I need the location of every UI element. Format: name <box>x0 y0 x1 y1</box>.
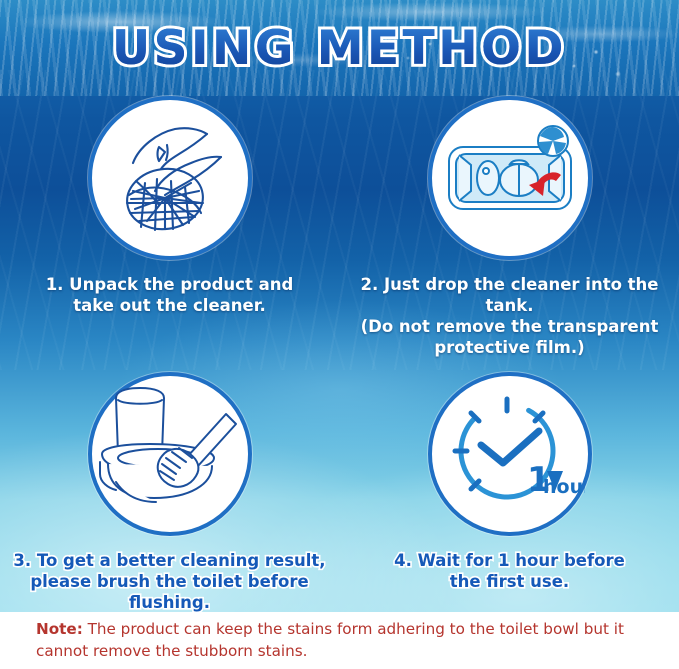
step-1-badge <box>88 96 252 260</box>
steps-grid: 1. Unpack the product and take out the c… <box>0 96 679 562</box>
step-4-badge: 1 hour <box>428 372 592 536</box>
step-4-caption: 4. Wait for 1 hour before the first use. <box>345 550 675 592</box>
clock-hour-unit: hour <box>543 476 585 498</box>
cleaner-pinwheel <box>538 126 568 156</box>
hand-unpacking-cleaner-icon <box>95 103 245 253</box>
step-2: 2. Just drop the cleaner into the tank. … <box>340 96 679 358</box>
clock-one-hour-icon: 1 hour <box>435 379 585 529</box>
step-1-caption: 1. Unpack the product and take out the c… <box>5 274 335 316</box>
note-text: Note: The product can keep the stains fo… <box>36 618 659 662</box>
clock-hands <box>481 431 539 463</box>
step-2-caption: 2. Just drop the cleaner into the tank. … <box>345 274 675 358</box>
step-3: 3. To get a better cleaning result, plea… <box>0 372 339 613</box>
toilet-tank-drop-cleaner-icon <box>435 103 585 253</box>
step-4: 1 hour 4. Wait for 1 hour before the fir… <box>340 372 679 592</box>
page-title: USING METHOD <box>0 22 679 76</box>
poster: USING METHOD USING METHOD <box>0 0 679 669</box>
step-1: 1. Unpack the product and take out the c… <box>0 96 339 316</box>
steps-row-1: 1. Unpack the product and take out the c… <box>0 96 679 372</box>
note-label: Note: <box>36 620 83 638</box>
step-2-badge <box>428 96 592 260</box>
note-body: The product can keep the stains form adh… <box>36 620 624 660</box>
note-footer: Note: The product can keep the stains fo… <box>0 612 679 669</box>
step-3-caption: 3. To get a better cleaning result, plea… <box>5 550 335 613</box>
toilet-brush-icon <box>94 378 246 530</box>
steps-row-2: 3. To get a better cleaning result, plea… <box>0 372 679 562</box>
step-3-badge <box>88 372 252 536</box>
